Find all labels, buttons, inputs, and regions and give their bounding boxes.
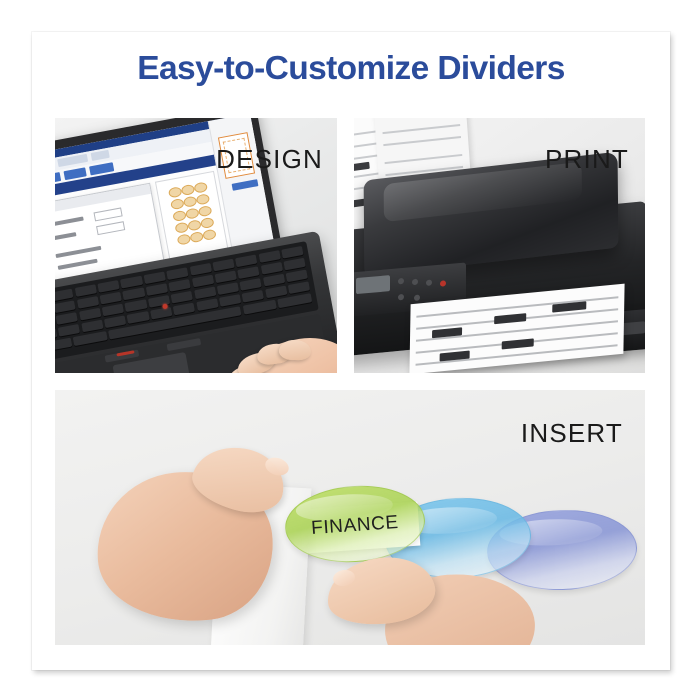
tab-label-finance: FINANCE — [290, 500, 421, 553]
key — [100, 292, 122, 305]
panel-label-print: PRINT — [545, 144, 629, 175]
tab-cell — [200, 217, 215, 229]
key — [288, 281, 310, 294]
key — [125, 299, 147, 312]
key — [123, 288, 145, 301]
key — [194, 287, 216, 300]
key — [55, 338, 72, 353]
key — [242, 300, 277, 315]
key — [281, 246, 303, 259]
key — [265, 286, 287, 299]
printer-power-button — [440, 280, 446, 287]
key — [219, 294, 241, 307]
key — [120, 276, 142, 289]
dialog-input — [96, 221, 125, 235]
key — [102, 304, 124, 317]
tab-cell — [185, 207, 200, 219]
finance-label-wrap: FINANCE — [291, 504, 419, 548]
key — [214, 271, 236, 284]
tab-cell — [193, 181, 208, 193]
dialog-field-label — [55, 232, 76, 240]
key — [260, 262, 282, 275]
key — [189, 263, 211, 276]
divider-tab-grid — [168, 182, 215, 246]
dialog-option — [58, 259, 98, 270]
product-marketing-image: Easy-to-Customize Dividers — [0, 0, 700, 700]
key — [278, 293, 313, 308]
key — [58, 324, 80, 337]
key — [74, 284, 96, 297]
tab-cell — [168, 186, 183, 198]
key — [143, 271, 165, 284]
dialog-option — [55, 246, 101, 258]
tab-cell — [172, 210, 187, 222]
panel-label-design: DESIGN — [216, 144, 323, 175]
printer-lcd-display — [356, 275, 390, 294]
key — [283, 258, 305, 271]
key — [196, 298, 218, 311]
tab-cell — [170, 198, 185, 210]
key — [79, 308, 101, 321]
key — [127, 311, 149, 324]
key — [217, 282, 239, 295]
key — [212, 259, 234, 272]
printer-button — [412, 279, 418, 286]
printer-button — [414, 295, 420, 302]
tab-cell — [187, 219, 202, 231]
key — [55, 328, 57, 341]
key — [173, 303, 195, 316]
tab-cell — [181, 184, 196, 196]
page-title: Easy-to-Customize Dividers — [32, 50, 670, 88]
key — [166, 267, 188, 280]
printer-button — [398, 294, 404, 301]
tab-cell — [196, 193, 211, 205]
key — [286, 270, 308, 283]
key — [242, 290, 264, 303]
tab-cell — [189, 231, 204, 243]
dialog-input — [93, 207, 122, 221]
printer-button — [426, 279, 432, 286]
tab-cell — [198, 205, 213, 217]
key — [237, 266, 259, 279]
hand-on-keyboard — [203, 332, 337, 373]
key — [263, 274, 285, 287]
printer-button — [398, 278, 404, 285]
key — [171, 291, 193, 304]
product-card: Easy-to-Customize Dividers — [32, 32, 670, 670]
dialog-field-label — [55, 216, 84, 226]
trackpad-button — [167, 338, 202, 351]
printed-label — [494, 313, 526, 324]
tab-cell — [202, 229, 217, 241]
key — [240, 278, 262, 291]
key — [258, 250, 280, 263]
hand-right — [327, 540, 517, 645]
panel-label-insert: INSERT — [521, 418, 623, 449]
label-block — [354, 162, 370, 174]
key — [56, 312, 78, 325]
panel-print: PRINT — [354, 118, 645, 373]
panel-insert: FINANCE INSERT — [55, 390, 645, 645]
key — [97, 280, 119, 293]
key — [235, 254, 257, 267]
key — [73, 331, 108, 346]
printed-label — [502, 338, 534, 349]
key — [81, 320, 103, 333]
key — [150, 307, 172, 320]
finger — [279, 339, 312, 360]
key — [55, 289, 74, 302]
key — [146, 283, 168, 296]
panel-design: DESIGN — [55, 118, 337, 373]
tab-cell — [174, 222, 189, 234]
key — [104, 315, 126, 328]
sidebar-button — [232, 179, 259, 191]
key — [77, 296, 99, 309]
key — [191, 275, 213, 288]
key — [169, 279, 191, 292]
tab-cell — [177, 233, 192, 245]
tab-cell — [183, 196, 198, 208]
key — [55, 300, 76, 313]
